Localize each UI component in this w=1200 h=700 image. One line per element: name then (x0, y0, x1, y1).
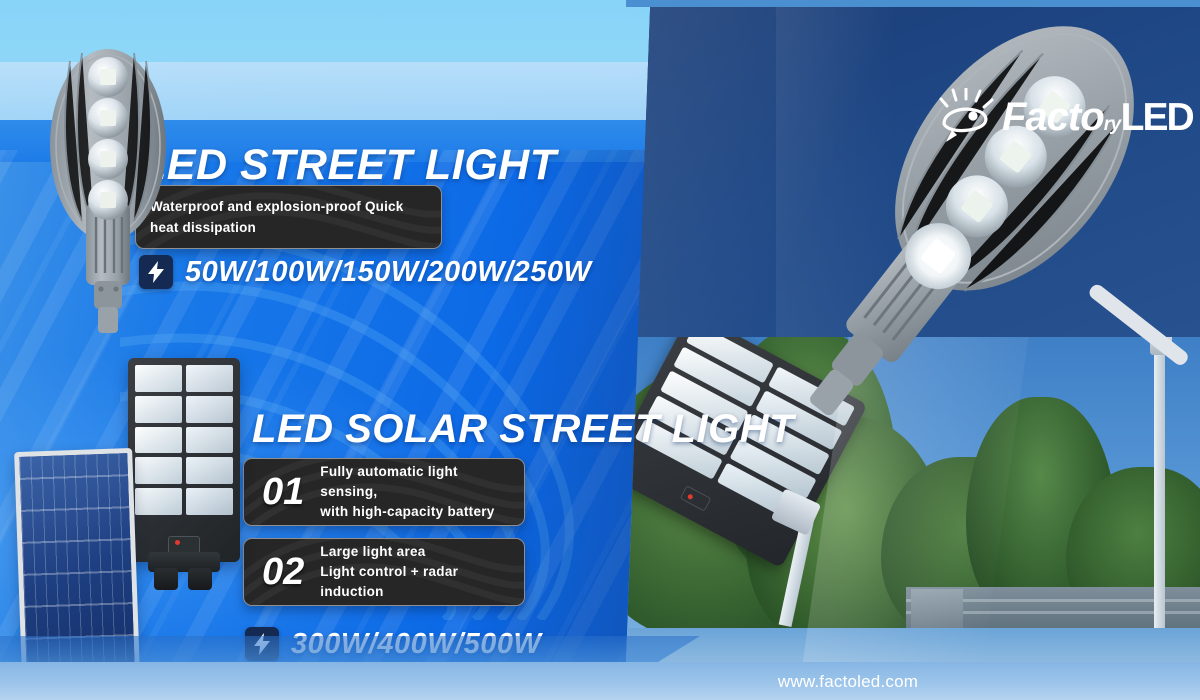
logo-o: o (1080, 95, 1103, 139)
section-1-feature-text: Waterproof and explosion-proof Quick hea… (150, 196, 427, 238)
installation-photo (626, 337, 1200, 662)
feature-number-01: 01 (262, 473, 304, 511)
feature-number-02: 02 (262, 553, 304, 591)
logo-ry: ry (1104, 114, 1121, 135)
feature-02-line-2: Light control + radar induction (320, 562, 506, 602)
footer-bar: www.factoled.com (0, 662, 1200, 700)
section-2-feature-box-01: 01 Fully automatic light sensing, with h… (243, 458, 525, 526)
product-solar-street-light (128, 358, 240, 606)
logo-led: LED (1121, 96, 1193, 139)
brand-logo: FactoryLED (930, 88, 1180, 150)
logo-fact: Fact (1002, 95, 1080, 139)
website-url-wrap: www.factoled.com (0, 672, 1200, 692)
background-top-strip (626, 0, 1200, 7)
feature-02-line-1: Large light area (320, 542, 506, 562)
light-pole (1154, 337, 1165, 632)
lamp-rays-icon (930, 88, 1000, 144)
section-1-power-text: 50W/100W/150W/200W/250W (185, 256, 591, 289)
section-2-feature-box-02: 02 Large light area Light control + rada… (243, 538, 525, 606)
hero-street-light (796, 32, 1200, 362)
section-2-title: LED SOLAR STREET LIGHT (252, 407, 794, 452)
website-url: www.factoled.com (778, 672, 918, 691)
logo-wordmark: FactoryLED (1002, 92, 1193, 150)
section-1-power-row: 50W/100W/150W/200W/250W (139, 255, 591, 289)
section-1-title: LED STREET LIGHT (140, 141, 557, 190)
footer-wedge (0, 636, 700, 662)
product-led-street-light (28, 25, 188, 335)
product-banner: FactoryLED LED STREET LIGHT Waterproof a… (0, 0, 1200, 700)
feature-01-line-1: Fully automatic light sensing, (320, 462, 506, 502)
feature-01-line-2: with high-capacity battery (320, 502, 506, 522)
